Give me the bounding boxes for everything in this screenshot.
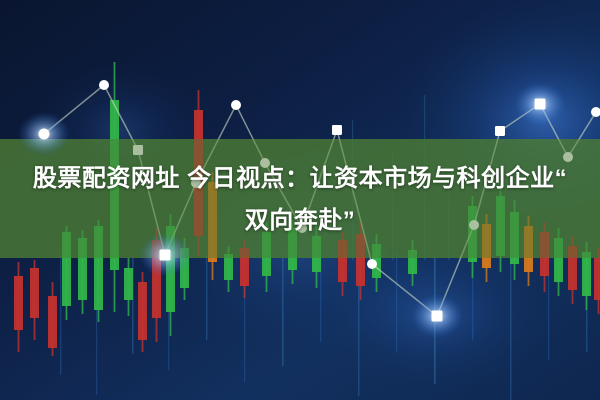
stock-chart-background — [0, 0, 600, 400]
data-point-marker-circle — [99, 80, 109, 90]
data-point-marker-glow — [160, 250, 171, 261]
data-point-marker-glow — [535, 99, 546, 110]
data-point-marker-square — [332, 125, 342, 135]
data-point-marker-circle — [191, 178, 201, 188]
data-point-marker-glow — [432, 311, 443, 322]
data-point-marker-square — [133, 145, 143, 155]
data-point-marker-circle — [297, 223, 307, 233]
data-point-marker-circle — [563, 152, 573, 162]
data-point-marker-square — [495, 126, 505, 136]
data-point-marker-glow — [39, 129, 50, 140]
data-point-marker-circle — [231, 100, 241, 110]
candlestick — [138, 272, 147, 352]
data-point-marker-circle — [367, 259, 377, 269]
data-point-marker-circle — [260, 158, 270, 168]
banner-image: 股票配资网址 今日视点：让资本市场与科创企业“ 双向奔赴” — [0, 0, 600, 400]
data-point-marker-circle — [469, 220, 479, 230]
